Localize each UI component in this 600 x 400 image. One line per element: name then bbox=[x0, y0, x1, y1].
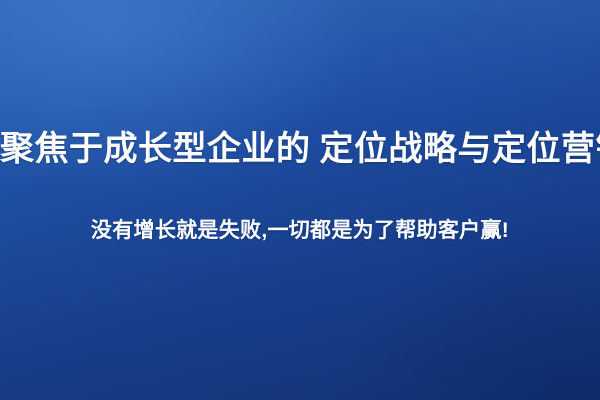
promo-banner: 聚焦于成长型企业的定位战略与定位营销 没有增长就是失败,一切都是为了帮助客户赢! bbox=[0, 0, 600, 400]
headline-segment-1: 聚焦于成长型企业的 bbox=[0, 130, 311, 168]
banner-headline: 聚焦于成长型企业的定位战略与定位营销 bbox=[0, 126, 600, 172]
banner-subtitle: 没有增长就是失败,一切都是为了帮助客户赢! bbox=[0, 214, 600, 248]
banner-content: 聚焦于成长型企业的定位战略与定位营销 没有增长就是失败,一切都是为了帮助客户赢! bbox=[0, 0, 600, 400]
headline-segment-2: 定位战略与定位营销 bbox=[320, 130, 600, 168]
